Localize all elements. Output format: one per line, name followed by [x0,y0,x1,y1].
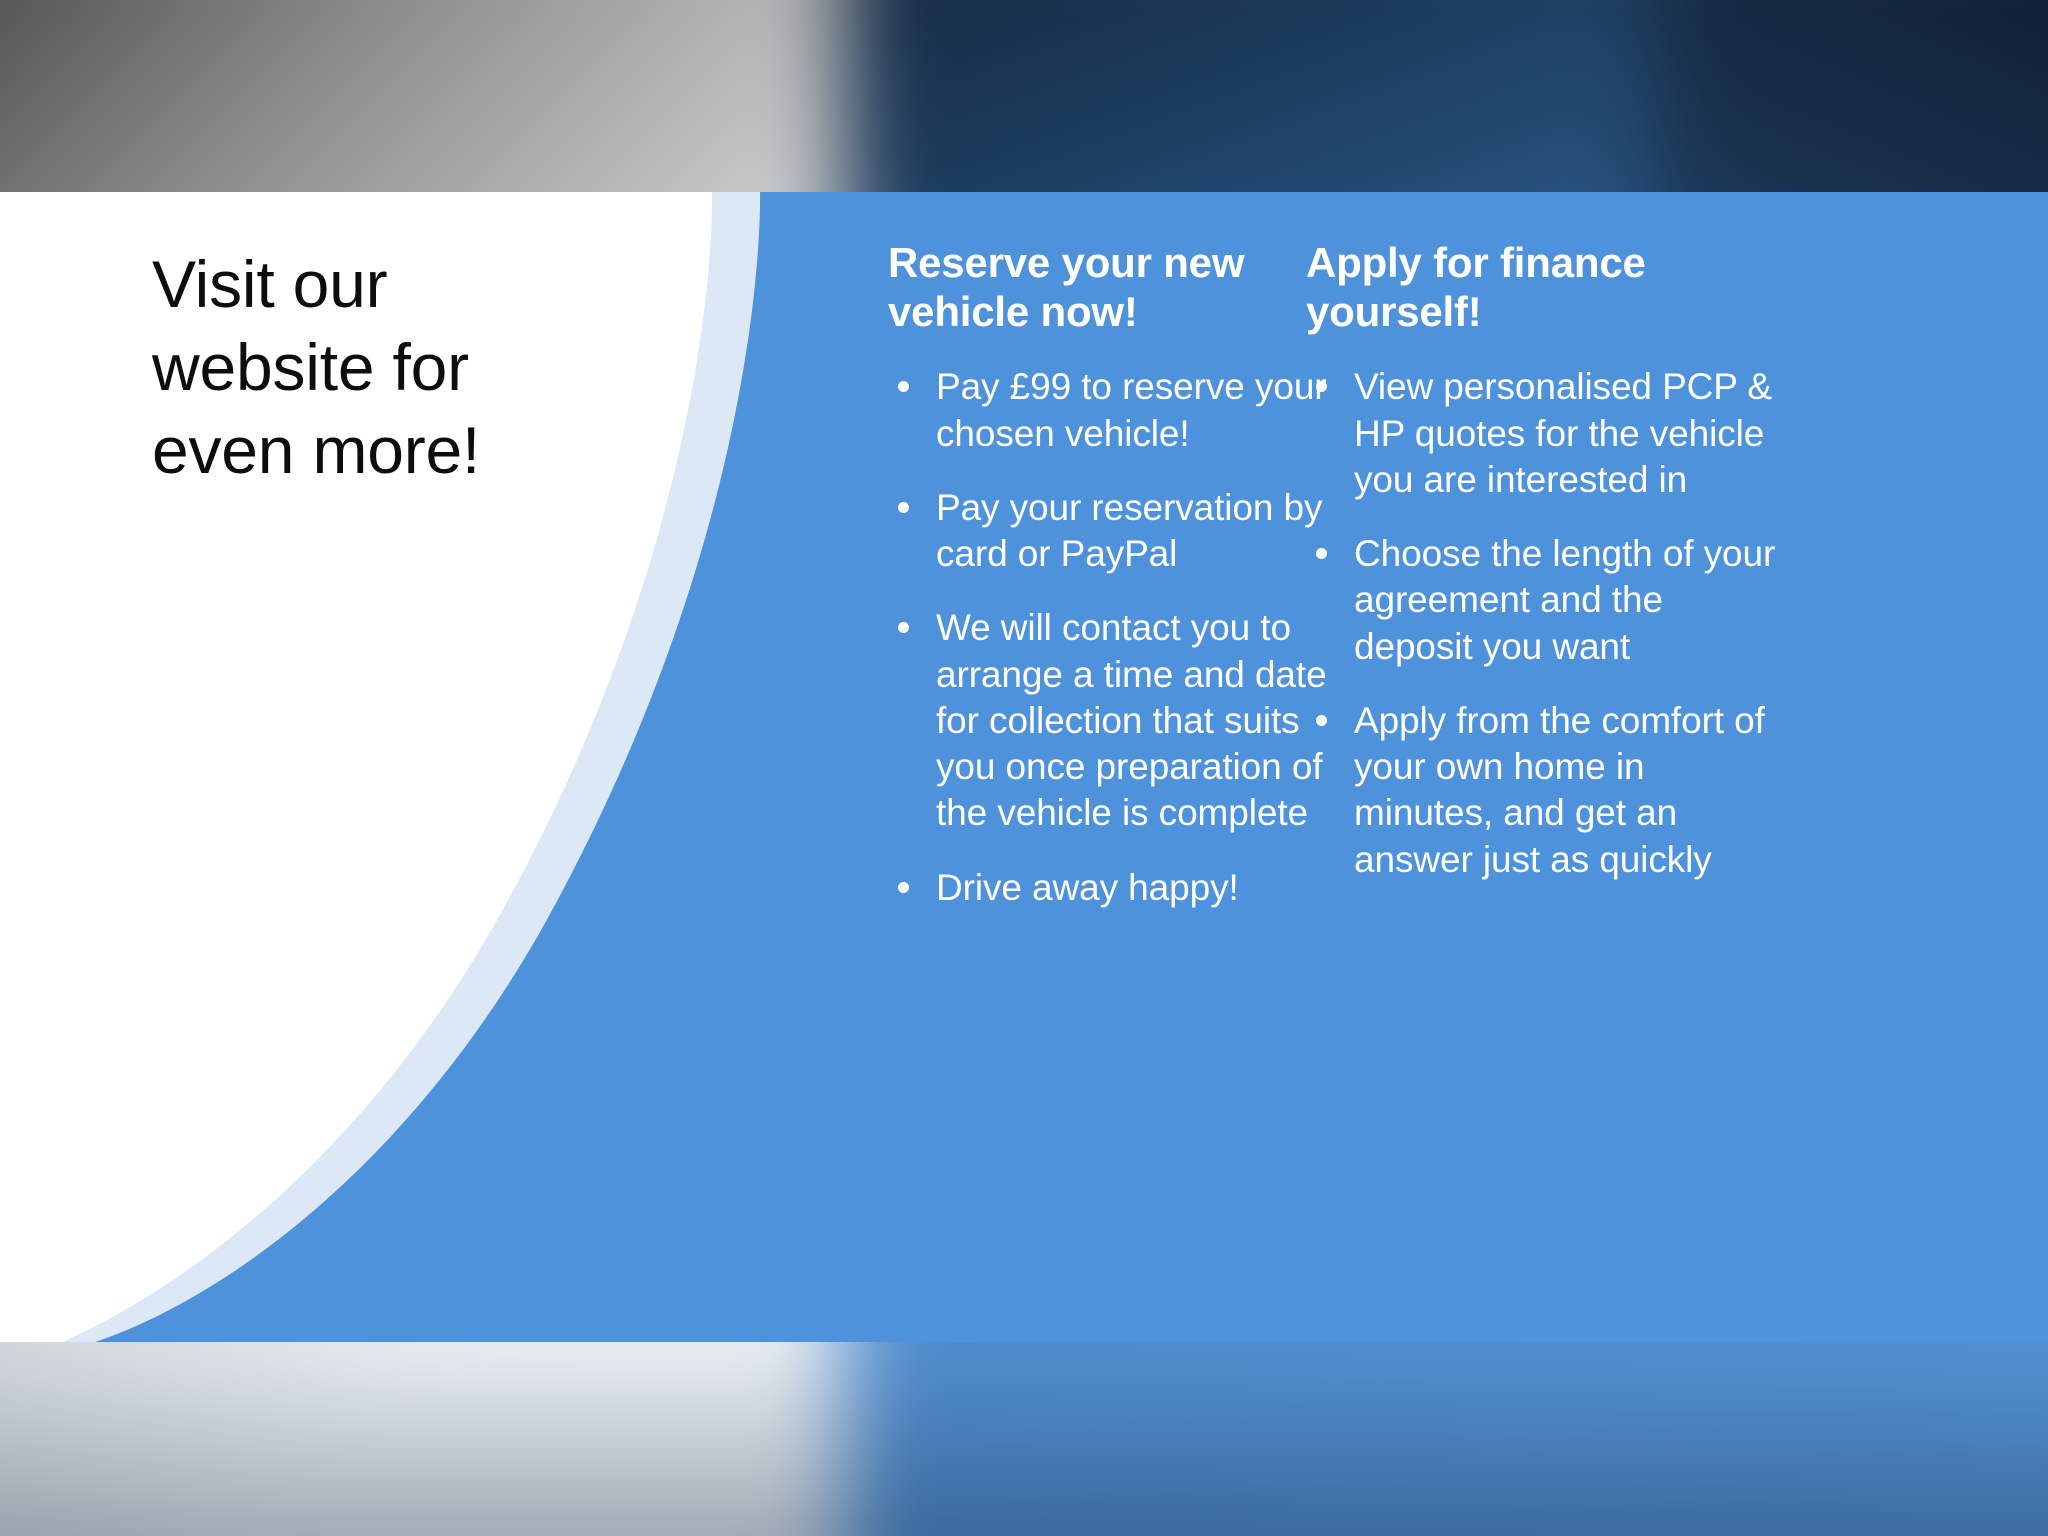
list-item-label: Pay £99 to reserve your chosen vehicle! [936,366,1327,453]
column-reserve-heading: Reserve your new vehicle now! [888,238,1358,336]
list-item: Pay your reservation by card or PayPal [888,485,1358,578]
column-reserve: Reserve your new vehicle now! Pay £99 to… [888,238,1358,911]
bullet-dot-icon [898,502,909,513]
list-item-label: View personalised PCP & HP quotes for th… [1354,366,1772,500]
list-item: Pay £99 to reserve your chosen vehicle! [888,364,1358,457]
list-item-label: Choose the length of your agreement and … [1354,533,1775,667]
list-item-label: Apply from the comfort of your own home … [1354,700,1765,880]
screenshot-stage: Visit our website for even more! Reserve… [0,0,2048,1536]
list-item: Apply from the comfort of your own home … [1306,698,1776,883]
column-finance: Apply for finance yourself! View persona… [1306,238,1776,883]
list-item-label: We will contact you to arrange a time an… [936,607,1327,833]
list-item: Drive away happy! [888,865,1358,911]
list-item-label: Drive away happy! [936,867,1239,908]
bullet-dot-icon [1316,548,1327,559]
page-title: Visit our website for even more! [152,243,582,492]
list-item: View personalised PCP & HP quotes for th… [1306,364,1776,503]
bullet-dot-icon [898,381,909,392]
column-finance-bullet-list: View personalised PCP & HP quotes for th… [1306,364,1776,883]
list-item-label: Pay your reservation by card or PayPal [936,487,1322,574]
list-item: Choose the length of your agreement and … [1306,531,1776,670]
column-reserve-bullet-list: Pay £99 to reserve your chosen vehicle! … [888,364,1358,911]
list-item: We will contact you to arrange a time an… [888,605,1358,836]
column-finance-heading: Apply for finance yourself! [1306,238,1776,336]
bullet-dot-icon [898,882,909,893]
bullet-dot-icon [1316,381,1327,392]
bullet-dot-icon [1316,715,1327,726]
bullet-dot-icon [898,622,909,633]
